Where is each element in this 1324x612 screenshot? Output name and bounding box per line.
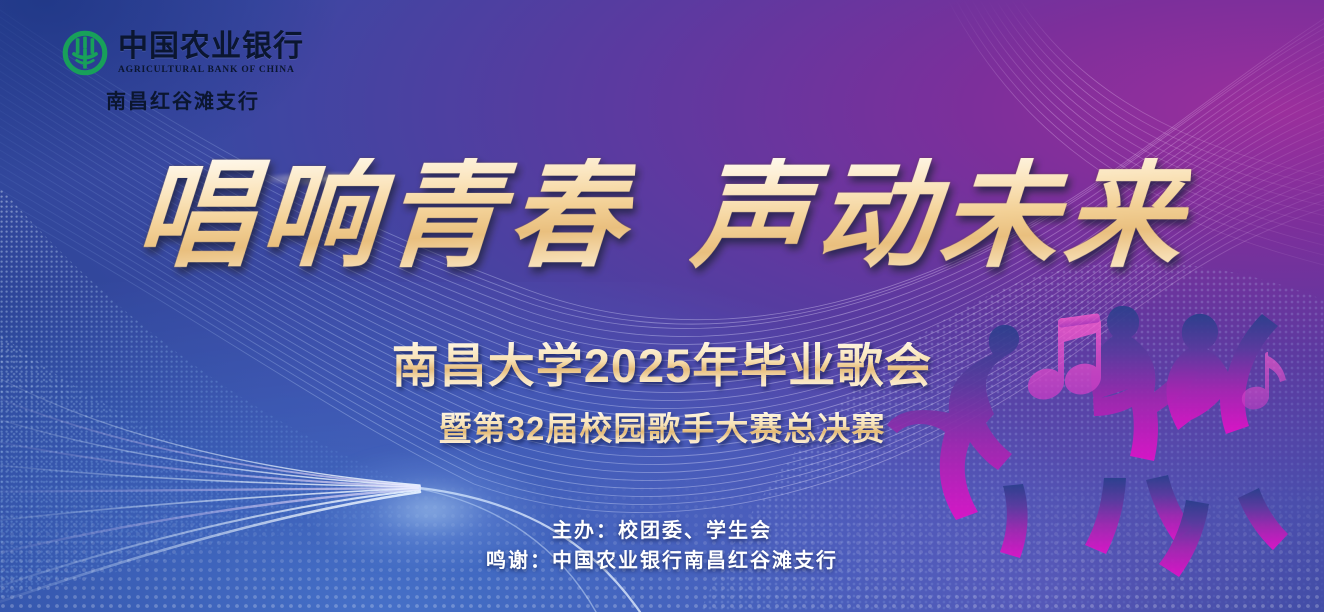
headline: 唱响青春 声动未来: [0, 158, 1324, 276]
credits-block: 主办：校团委、学生会 鸣谢：中国农业银行南昌红谷滩支行: [0, 516, 1324, 576]
event-banner: 中国农业银行 AGRICULTURAL BANK OF CHINA 南昌红谷滩支…: [0, 0, 1324, 612]
abc-bank-emblem-icon: [62, 30, 108, 76]
logo-row: 中国农业银行 AGRICULTURAL BANK OF CHINA: [62, 30, 304, 76]
headline-part-2: 声动未来: [688, 158, 1192, 276]
sponsor-logo: 中国农业银行 AGRICULTURAL BANK OF CHINA 南昌红谷滩支…: [58, 30, 308, 114]
bank-name-cn: 中国农业银行: [118, 31, 304, 63]
credit-organizer: 主办：校团委、学生会: [0, 516, 1324, 546]
logo-text-column: 中国农业银行 AGRICULTURAL BANK OF CHINA: [118, 31, 304, 76]
credit-acknowledgement: 鸣谢：中国农业银行南昌红谷滩支行: [0, 546, 1324, 576]
bank-branch-name: 南昌红谷滩支行: [106, 85, 260, 114]
bank-name-en: AGRICULTURAL BANK OF CHINA: [118, 65, 295, 75]
subtitle-main: 南昌大学2025年毕业歌会: [0, 342, 1324, 389]
subtitle-secondary: 暨第32届校园歌手大赛总决赛: [0, 412, 1324, 445]
headline-part-1: 唱响青春: [131, 158, 635, 276]
